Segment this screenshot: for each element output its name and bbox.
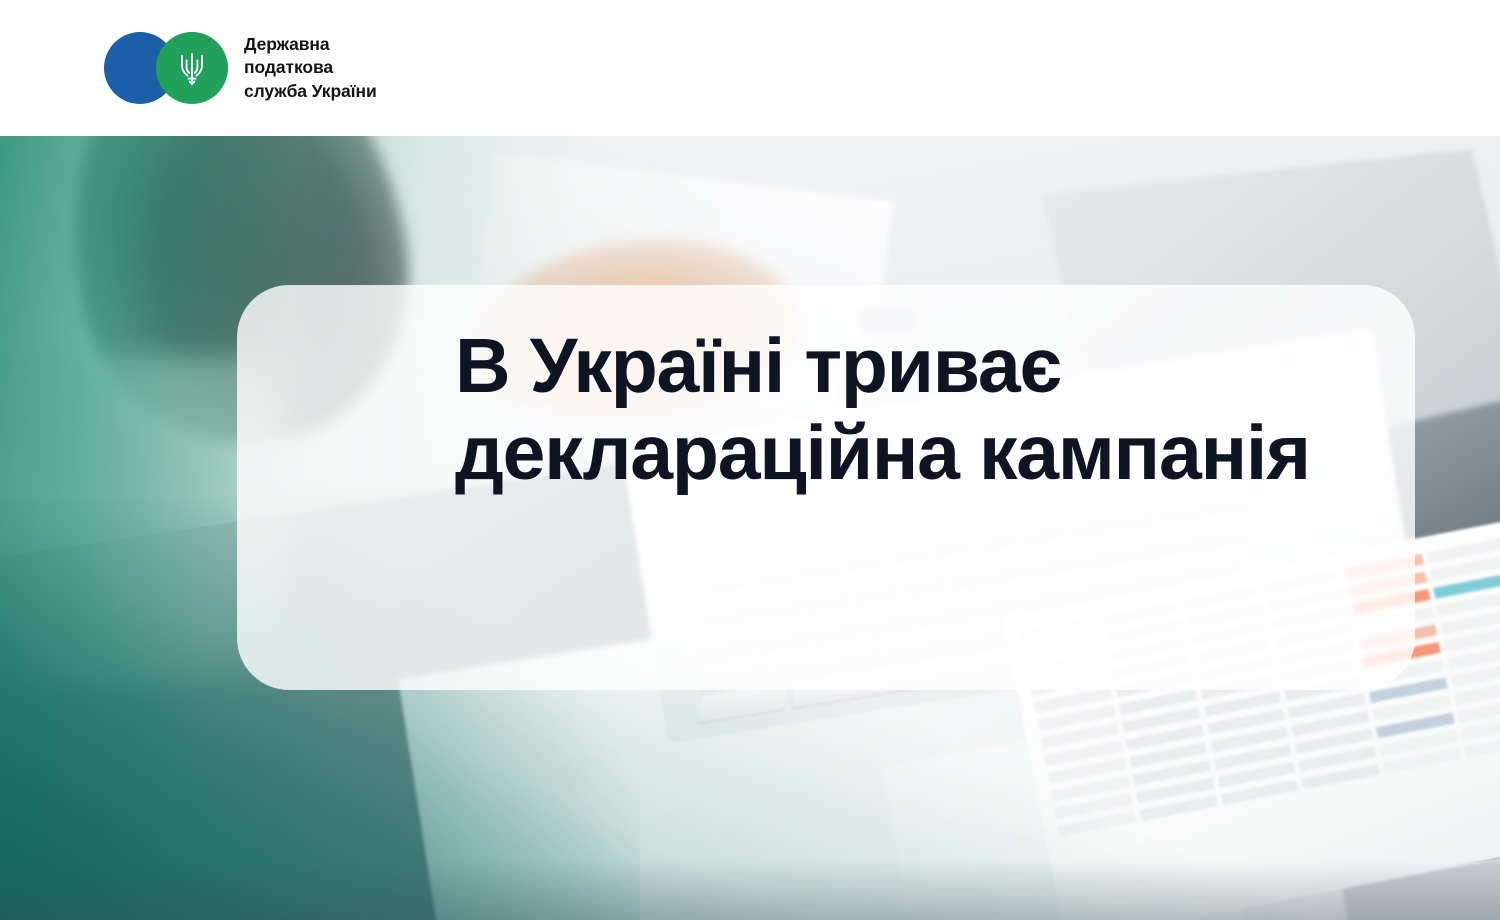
site-header: Державна податкова служба України [0, 0, 1500, 136]
logo-text: Державна податкова служба України [244, 33, 377, 103]
logo-marks [104, 32, 228, 104]
dps-logo[interactable]: Державна податкова служба України [104, 26, 377, 110]
page-title: В Україні триває деклараційна кампанія [455, 323, 1315, 497]
dps-announcement-banner: В Україні триває деклараційна кампанія [0, 0, 1500, 920]
green-circle-icon [156, 32, 228, 104]
ukrainian-trident-icon [177, 50, 207, 86]
